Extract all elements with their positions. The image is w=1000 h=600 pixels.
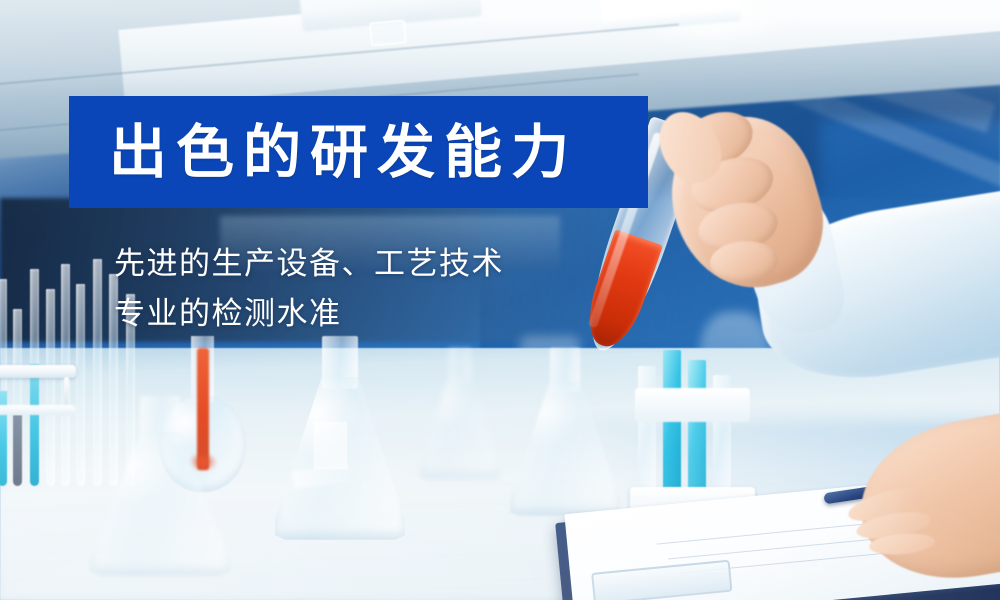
tube-liquid-cyan bbox=[30, 364, 39, 485]
tube-liquid-dark bbox=[13, 415, 22, 486]
headline-banner-box: 出色的研发能力 bbox=[69, 96, 648, 208]
test-tube bbox=[13, 309, 22, 485]
erlenmeyer-flask-right bbox=[510, 348, 620, 516]
hand-holding-test-tube bbox=[630, 36, 1000, 408]
subtitle-line-1: 先进的生产设备、工艺技术 bbox=[114, 249, 504, 280]
flask-body bbox=[420, 374, 500, 480]
flask-body bbox=[510, 382, 620, 516]
erlenmeyer-flask-main bbox=[275, 336, 405, 540]
subtitle-line-2: 专业的检测水准 bbox=[114, 299, 342, 330]
rack-leg bbox=[64, 377, 69, 405]
hero-banner: 出色的研发能力 先进的生产设备、工艺技术 专业的检测水准 bbox=[0, 0, 1000, 600]
rack-base bbox=[0, 405, 76, 415]
erlenmeyer-flask-left bbox=[90, 396, 230, 576]
test-tube bbox=[46, 289, 55, 486]
page-title: 出色的研发能力 bbox=[109, 123, 578, 181]
erlenmeyer-flask-far bbox=[420, 348, 500, 480]
rack-top-bar bbox=[0, 365, 76, 378]
lamp-bracket bbox=[369, 19, 407, 46]
flask-label bbox=[314, 422, 347, 469]
hand-on-clipboard bbox=[860, 420, 1000, 576]
flask-body bbox=[90, 432, 230, 576]
test-tube bbox=[0, 279, 7, 486]
test-tube bbox=[76, 284, 85, 486]
